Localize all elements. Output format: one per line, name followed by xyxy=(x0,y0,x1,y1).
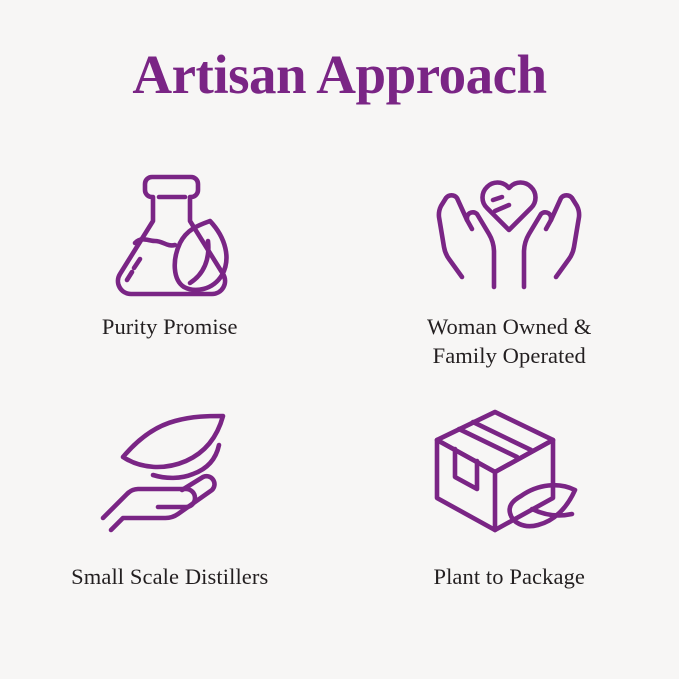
box-leaf-icon xyxy=(414,400,604,540)
feature-label: Purity Promise xyxy=(102,312,238,341)
feature-label: Plant to Package xyxy=(433,562,585,591)
feature-label: Small Scale Distillers xyxy=(71,562,268,591)
feature-grid: Purity Promise xyxy=(0,150,679,650)
flask-leaf-icon xyxy=(75,150,265,300)
page-title: Artisan Approach xyxy=(0,44,679,106)
hands-heart-icon xyxy=(414,150,604,300)
feature-item-woman-owned: Woman Owned & Family Operated xyxy=(340,150,679,400)
feature-item-small-scale-distillers: Small Scale Distillers xyxy=(0,400,340,650)
feature-item-purity-promise: Purity Promise xyxy=(0,150,340,400)
hand-leaf-icon xyxy=(75,400,265,540)
artisan-approach-graphic: Artisan Approach xyxy=(0,0,679,679)
feature-label: Woman Owned & Family Operated xyxy=(427,312,591,370)
feature-item-plant-to-package: Plant to Package xyxy=(340,400,679,650)
